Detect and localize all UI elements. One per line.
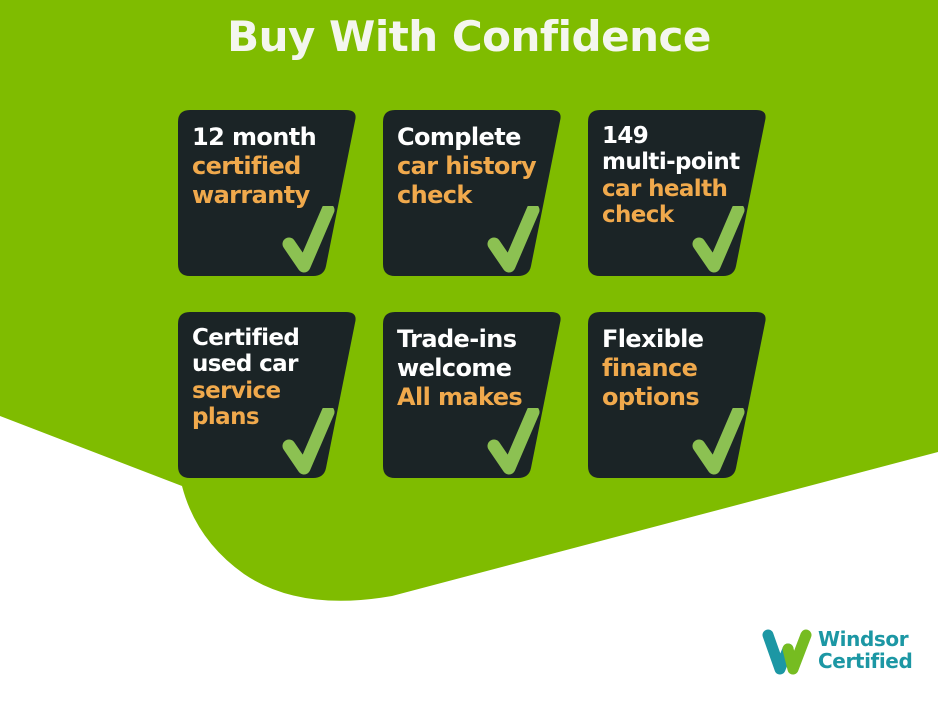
card-text: Trade-inswelcomeAll makes bbox=[397, 325, 555, 412]
feature-card-trade-ins-welcome-all-makes[interactable]: Trade-inswelcomeAll makes bbox=[383, 312, 563, 484]
card-line: Flexible bbox=[602, 325, 760, 354]
card-line: welcome bbox=[397, 354, 555, 383]
card-line: 12 month bbox=[192, 123, 350, 152]
card-line: Trade-ins bbox=[397, 325, 555, 354]
card-line: service bbox=[192, 378, 350, 404]
card-line: car history bbox=[397, 152, 555, 181]
card-line: car health bbox=[602, 176, 760, 202]
card-text: Certifiedused carserviceplans bbox=[192, 325, 350, 431]
logo-wordmark: Windsor Certified bbox=[818, 628, 912, 673]
card-line: check bbox=[397, 181, 555, 210]
card-line: Certified bbox=[192, 325, 350, 351]
feature-card-flexible-finance-options[interactable]: Flexiblefinanceoptions bbox=[588, 312, 768, 484]
card-text: Flexiblefinanceoptions bbox=[602, 325, 760, 412]
card-line: multi-point bbox=[602, 149, 760, 175]
card-line: Complete bbox=[397, 123, 555, 152]
page-title: Buy With Confidence bbox=[0, 16, 938, 58]
poster-canvas: Buy With Confidence 12 monthcertifiedwar… bbox=[0, 0, 938, 704]
card-line: plans bbox=[192, 404, 350, 430]
logo-line-certified: Certified bbox=[818, 650, 912, 672]
card-line: finance bbox=[602, 354, 760, 383]
card-text: 12 monthcertifiedwarranty bbox=[192, 123, 350, 210]
card-line: check bbox=[602, 202, 760, 228]
feature-card-12-month-certified-warranty[interactable]: 12 monthcertifiedwarranty bbox=[178, 110, 358, 282]
card-line: 149 bbox=[602, 123, 760, 149]
card-line: certified bbox=[192, 152, 350, 181]
card-text: Completecar historycheck bbox=[397, 123, 555, 210]
card-text: 149multi-pointcar healthcheck bbox=[602, 123, 760, 229]
feature-card-complete-car-history-check[interactable]: Completecar historycheck bbox=[383, 110, 563, 282]
card-line: used car bbox=[192, 351, 350, 377]
brand-logo[interactable]: Windsor Certified bbox=[762, 626, 922, 682]
card-line: All makes bbox=[397, 383, 555, 412]
windsor-w-icon bbox=[762, 629, 814, 677]
feature-card-certified-used-car-service-plans[interactable]: Certifiedused carserviceplans bbox=[178, 312, 358, 484]
card-line: options bbox=[602, 383, 760, 412]
feature-card-149-multi-point-car-health-check[interactable]: 149multi-pointcar healthcheck bbox=[588, 110, 768, 282]
logo-line-windsor: Windsor bbox=[818, 628, 912, 650]
card-line: warranty bbox=[192, 181, 350, 210]
